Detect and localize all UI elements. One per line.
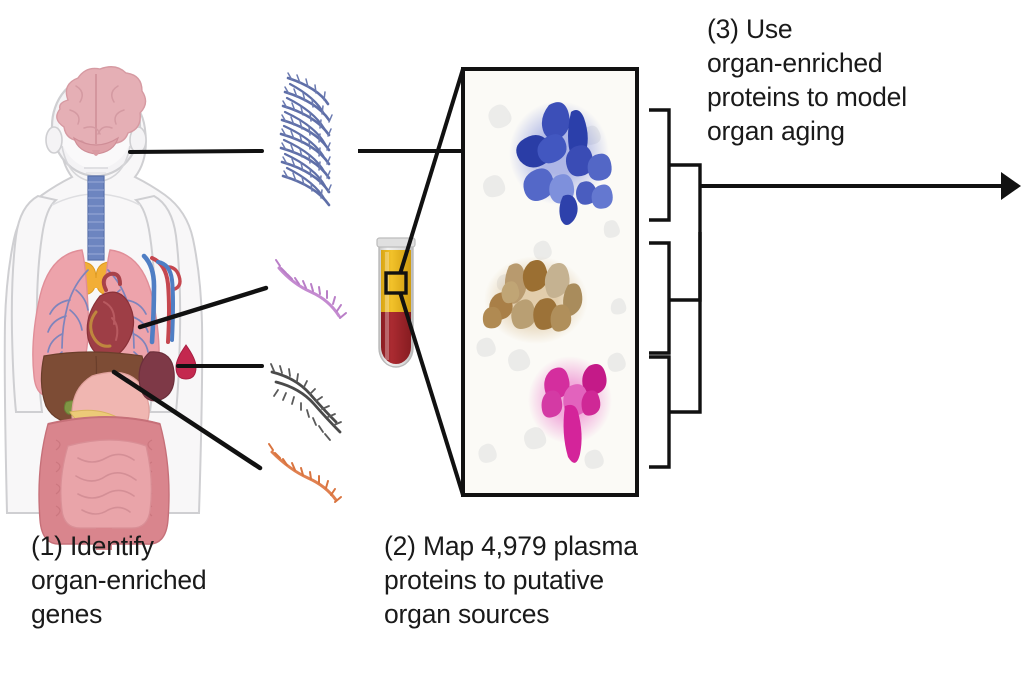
connector-tube-to-panel-bottom <box>400 292 463 495</box>
bracket-group-1 <box>649 110 669 220</box>
bracket-merge-final <box>669 232 700 412</box>
blood-collection-tube <box>377 238 415 372</box>
small-intestine <box>61 440 151 528</box>
step-2-caption: (2) Map 4,979 plasma proteins to putativ… <box>384 529 714 631</box>
step-1-caption: (1) Identify organ-enriched genes <box>31 529 351 631</box>
connector-tube-to-panel-top <box>400 69 463 274</box>
dna-helix-brain <box>281 73 332 205</box>
bracket-group-3 <box>649 357 669 467</box>
step-3-caption: (3) Use organ-enriched proteins to model… <box>707 12 1007 148</box>
rna-strand-heart <box>276 260 346 318</box>
model-aging-arrow <box>700 172 1021 200</box>
bracket-group-2 <box>649 243 669 353</box>
trachea <box>88 176 104 260</box>
rna-strand-liver <box>269 444 341 502</box>
organ-group-brackets <box>649 110 700 467</box>
plasma-protein-map <box>463 69 637 495</box>
bracket-merge-upper <box>669 165 700 300</box>
human-torso-anatomy <box>5 67 202 550</box>
dna-strand-spleen <box>271 364 341 440</box>
scientific-figure: (1) Identify organ-enriched genes (2) Ma… <box>0 0 1024 688</box>
connector-brain-to-dna <box>130 151 262 152</box>
